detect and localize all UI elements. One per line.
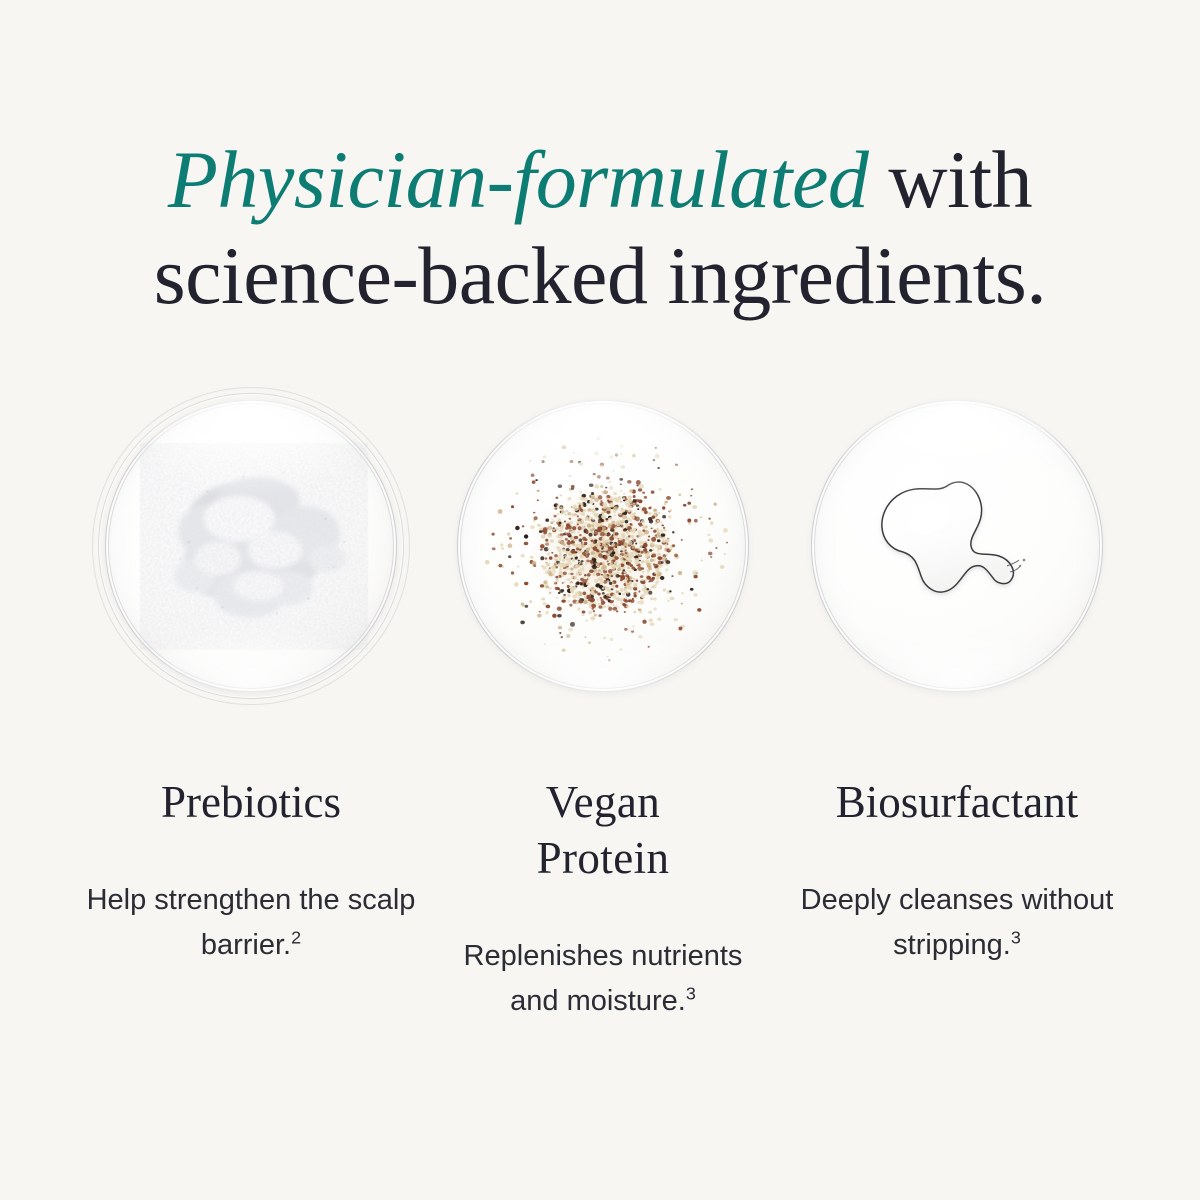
petri-dish-vegan-protein [457,400,749,692]
petri-dish-glass-icon [105,400,397,692]
ingredient-description-text: Replenishes nutrients and moisture. [464,940,743,1017]
ingredient-description-text: Deeply cleanses without stripping. [801,884,1114,961]
ingredient-name-line1: Vegan [546,777,660,827]
ingredient-card-vegan-protein: Vegan Protein Replenishes nutrients and … [423,400,783,1024]
ingredient-description-text: Help strengthen the scalp barrier. [87,884,416,961]
ingredient-description-prebiotics: Help strengthen the scalp barrier.2 [86,878,416,968]
petri-dish-glass-icon [811,400,1103,692]
ingredient-name-line1: Prebiotics [161,777,341,827]
page-headline: Physician-formulated with science-backed… [0,132,1200,324]
ingredient-name-line1: Biosurfactant [836,777,1078,827]
headline-line2: science-backed ingredients. [0,228,1200,324]
footnote-marker: 3 [1011,927,1021,947]
petri-dish-biosurfactant [811,400,1103,692]
ingredients-row: Prebiotics Help strengthen the scalp bar… [0,400,1200,1024]
ingredient-name-vegan-protein: Vegan Protein [537,774,670,886]
footnote-marker: 2 [291,927,301,947]
petri-dish-glass-icon [457,400,749,692]
headline-accent-text: Physician-formulated [168,134,869,225]
ingredient-name-line2: Protein [537,833,670,883]
ingredient-description-vegan-protein: Replenishes nutrients and moisture.3 [438,934,768,1024]
footnote-marker: 3 [686,983,696,1003]
headline-line1-rest: with [868,134,1032,225]
ingredient-name-biosurfactant: Biosurfactant [836,774,1078,830]
ingredient-description-biosurfactant: Deeply cleanses without stripping.3 [792,878,1122,968]
ingredient-card-biosurfactant: Biosurfactant Deeply cleanses without st… [777,400,1137,968]
ingredient-card-prebiotics: Prebiotics Help strengthen the scalp bar… [71,400,431,968]
ingredient-name-prebiotics: Prebiotics [161,774,341,830]
petri-dish-prebiotics [105,400,397,692]
